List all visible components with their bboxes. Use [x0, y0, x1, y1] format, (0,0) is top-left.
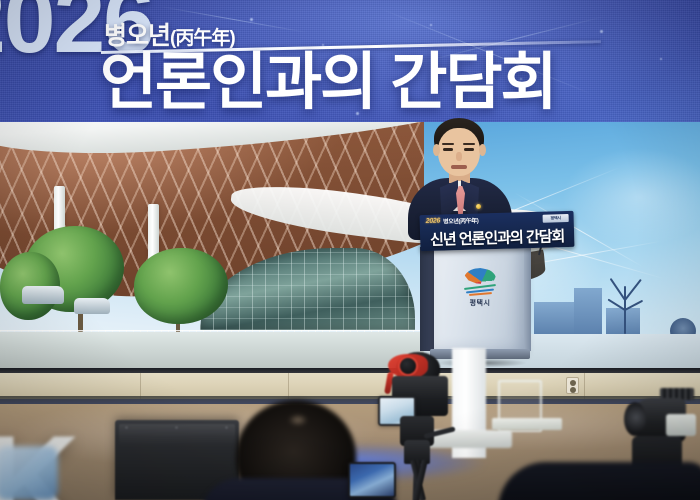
- podium-sign-logo-text: 평택시: [550, 215, 561, 221]
- render-ground-plane: [0, 332, 424, 372]
- city-emblem-label: 평택시: [462, 298, 498, 308]
- podium-sign-year: 2026: [426, 218, 441, 225]
- speaker-nose: [456, 152, 462, 161]
- speaker-lapel-pin: [476, 204, 481, 209]
- city-emblem-wing: [462, 286, 498, 297]
- podium-sign-zodiac: 병오년(丙午年): [443, 216, 479, 226]
- secondary-monitor-screen[interactable]: [348, 462, 396, 498]
- camera-front-element: [624, 402, 646, 436]
- speaker-eyebrow-left: [442, 143, 454, 145]
- photo-scene: 2026 병오년(丙午年) 언론인과의 간담회: [0, 0, 700, 500]
- speaker-eyebrow-right: [463, 143, 475, 145]
- podium-sign-title: 신년 언론인과의 간담회: [420, 223, 575, 251]
- led-sparkle: [250, 18, 253, 21]
- wall-power-outlet[interactable]: [566, 377, 579, 394]
- hair-highlight: [288, 414, 308, 426]
- led-backdrop-wall: 2026 병오년(丙午年) 언론인과의 간담회: [0, 0, 700, 372]
- led-sparkle: [660, 58, 662, 60]
- camera-lens-ring: [400, 358, 416, 374]
- podium-name-sign: 2026 병오년(丙午年) 평택시 신년 언론인과의 간담회: [420, 211, 575, 251]
- render-vehicle: [74, 298, 110, 314]
- speaker-mouth: [451, 165, 467, 169]
- podium-sign-logo-badge: 평택시: [543, 213, 569, 222]
- render-glass-facade: [200, 248, 415, 330]
- foreground-blue-blur: [0, 446, 58, 500]
- led-sparkle: [600, 30, 603, 33]
- equipment-cart-top: [492, 418, 562, 430]
- render-architecture-left: [0, 122, 424, 372]
- speaker-ear-left: [433, 144, 440, 156]
- podium-right-edge: [524, 246, 531, 351]
- speaker-eye-left: [443, 148, 453, 151]
- foreground-dark-mass-right: [498, 462, 700, 500]
- backdrop-zodiac-year: 병오년(丙午年): [104, 16, 235, 52]
- city-emblem: 평택시: [462, 268, 498, 304]
- backdrop-zodiac-hangul: 병오년: [104, 22, 170, 50]
- render-distant-building: [606, 308, 640, 336]
- backdrop-zodiac-hanja: (丙午年): [170, 28, 235, 49]
- podium: 평택시 2026 병오년(丙午年) 평택시 신년 언론인과의 간담회: [420, 213, 580, 363]
- camera-white-hood: [666, 414, 696, 436]
- speaker-eye-right: [464, 148, 474, 151]
- led-sparkle: [430, 24, 432, 26]
- render-glass-mullions: [200, 248, 415, 330]
- camera-lens-red-accent: [388, 354, 428, 378]
- speaker-ear-right: [479, 144, 486, 156]
- video-camera-tripod: [366, 352, 476, 500]
- render-vehicle: [22, 286, 64, 304]
- backdrop-main-title: 언론인과의 간담회: [100, 50, 556, 115]
